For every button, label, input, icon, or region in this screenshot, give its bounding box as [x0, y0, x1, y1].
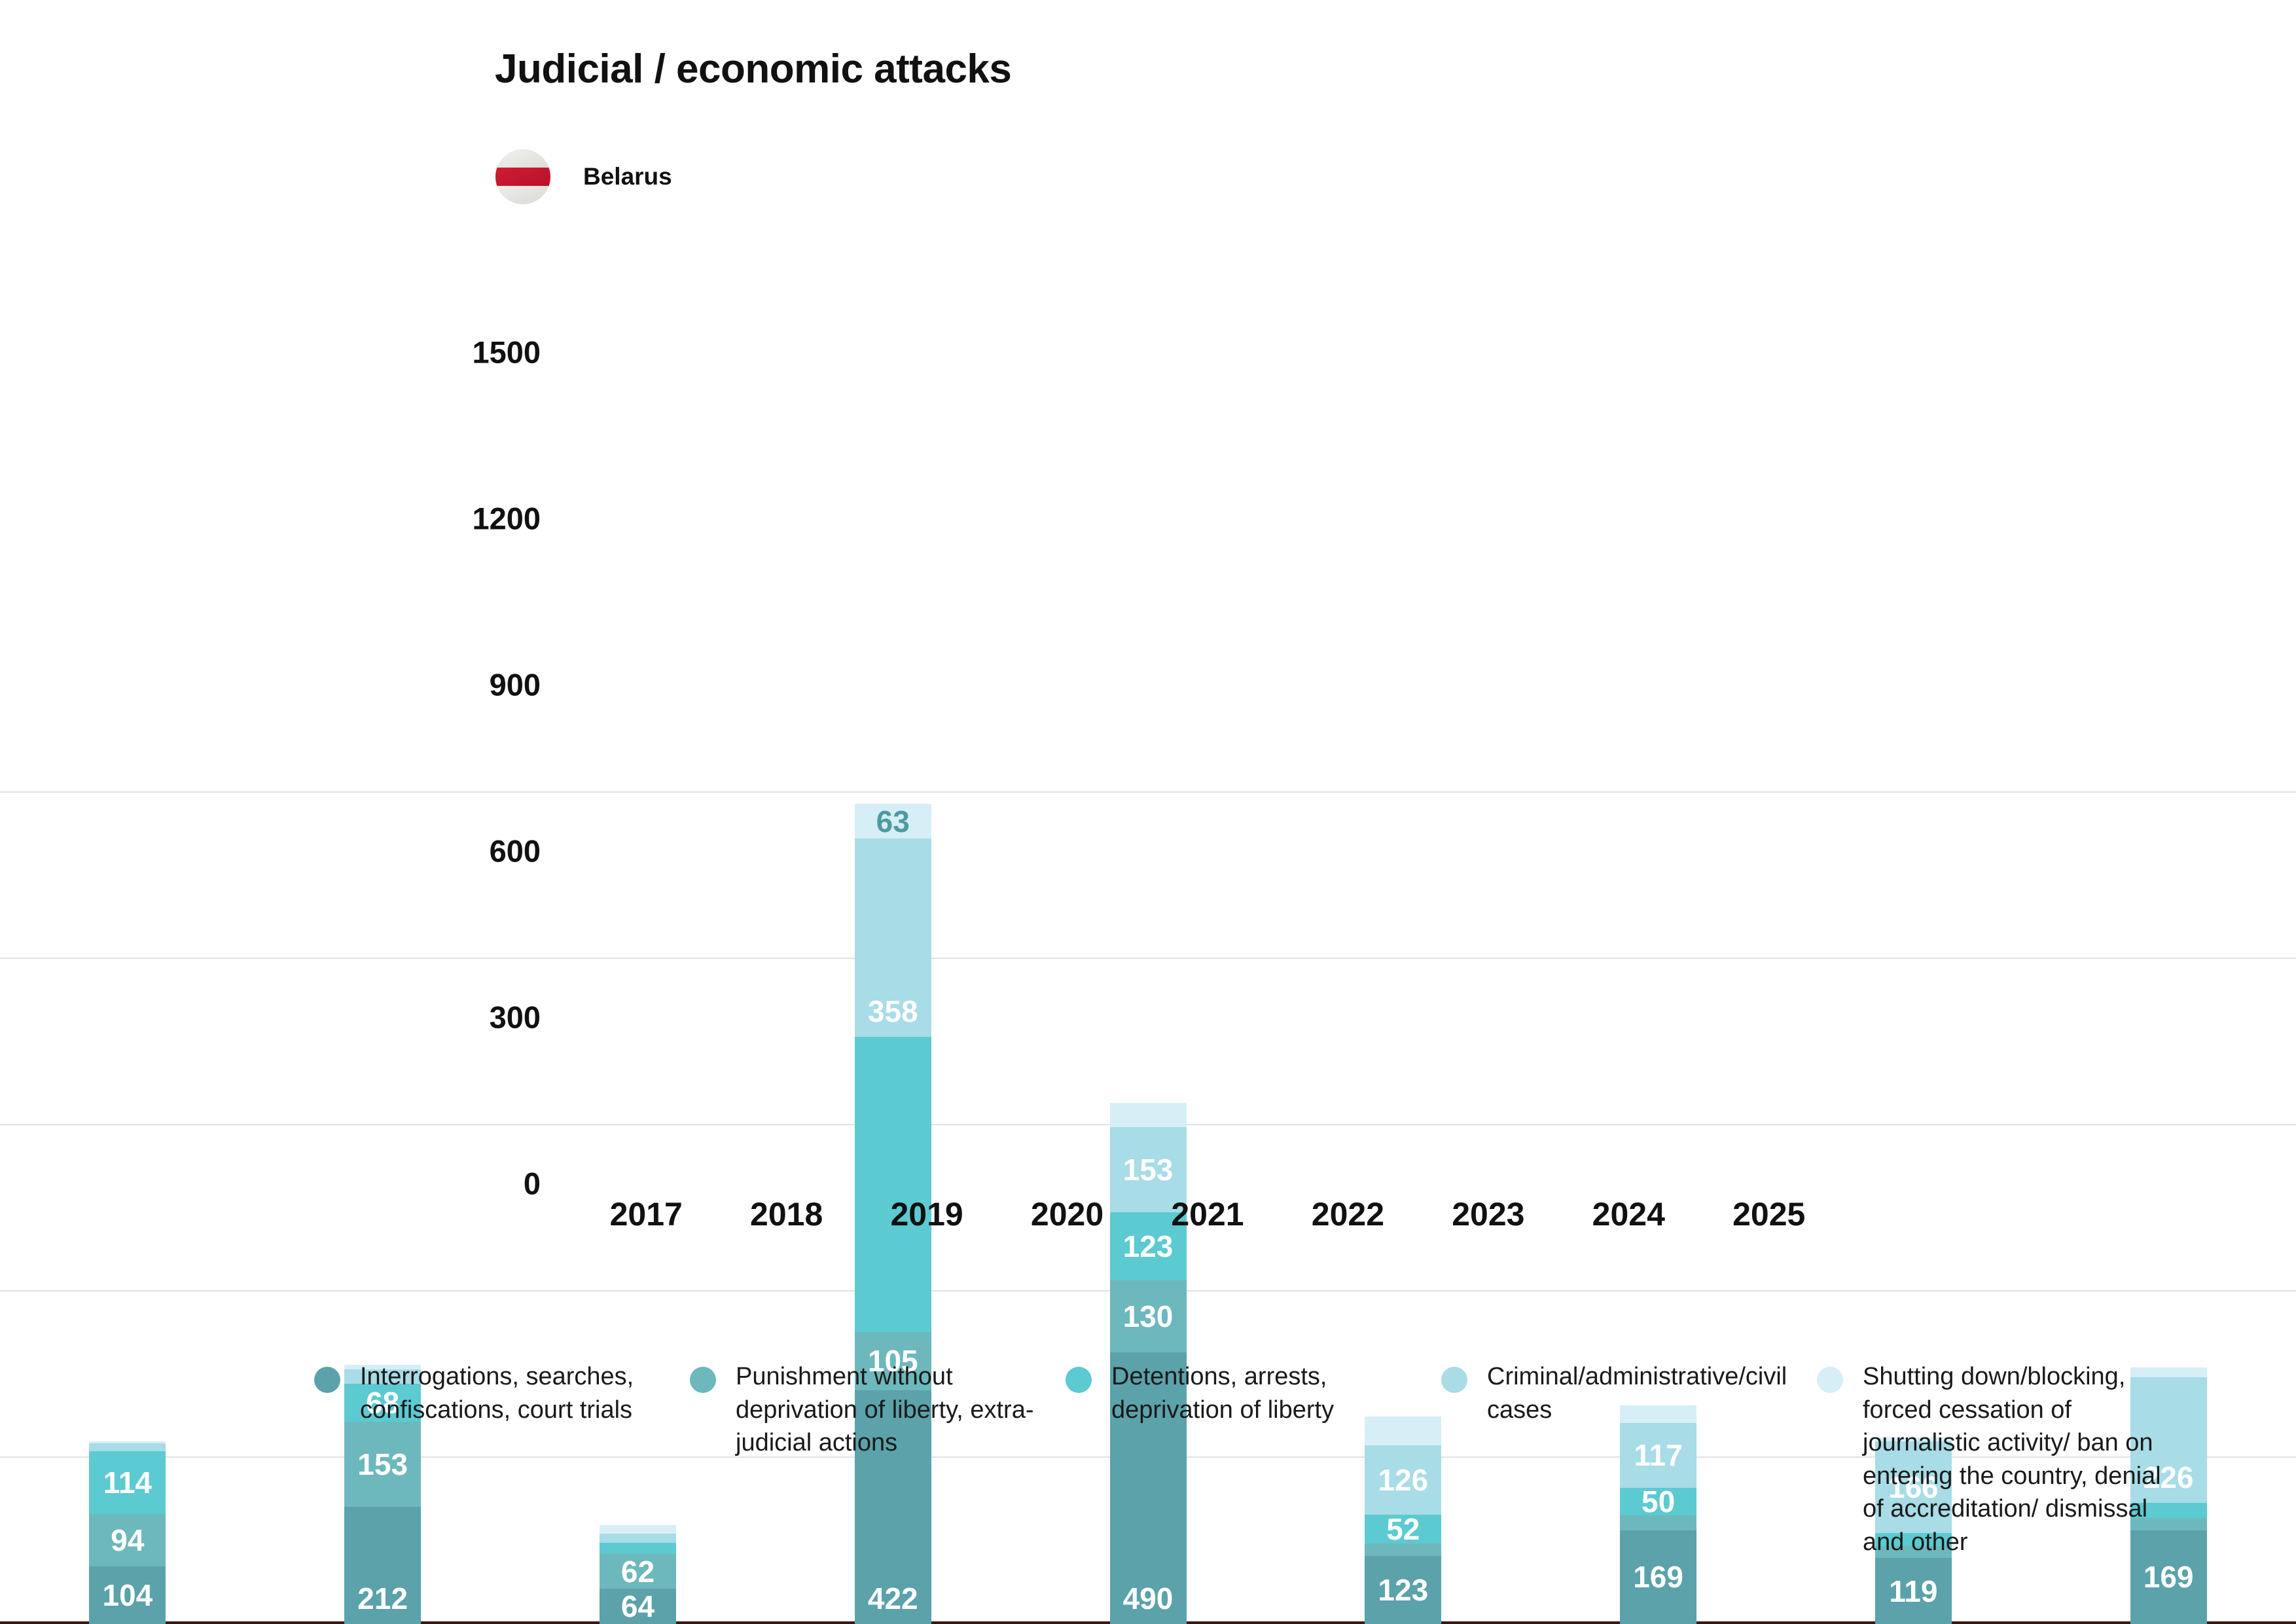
bar-segment[interactable]: 130: [1110, 1280, 1187, 1352]
bar-segment[interactable]: [89, 1441, 166, 1443]
legend-item[interactable]: Shutting down/blocking, forced cessation…: [1817, 1360, 2193, 1559]
chart-legend: Interrogations, searches, confiscations,…: [314, 1360, 2193, 1559]
bar-value-label: 104: [103, 1580, 153, 1610]
x-axis-labels: 201720182019202020212022202320242025: [576, 1195, 1839, 1233]
legend-item[interactable]: Criminal/administrative/civil cases: [1441, 1360, 1817, 1426]
x-axis-tick: 2019: [857, 1195, 997, 1233]
x-axis-tick: 2020: [997, 1195, 1137, 1233]
bar-value-label: 169: [2144, 1562, 2194, 1592]
x-axis-tick: 2024: [1558, 1195, 1698, 1233]
bar-value-label: 130: [1123, 1301, 1174, 1331]
bar-segment[interactable]: 94: [89, 1514, 166, 1566]
bar-segment[interactable]: [855, 1037, 931, 1331]
legend-item[interactable]: Interrogations, searches, confiscations,…: [314, 1360, 690, 1426]
bar-value-label: 94: [111, 1525, 144, 1555]
bar-value-label: 119: [1889, 1576, 1937, 1606]
legend-color-dot-icon: [1066, 1367, 1092, 1393]
legend-label: Interrogations, searches, confiscations,…: [360, 1360, 670, 1426]
bar-value-label: 114: [103, 1468, 152, 1498]
x-axis-tick: 2018: [716, 1195, 856, 1233]
x-axis-tick: 2023: [1418, 1195, 1558, 1233]
bar-value-label: 212: [357, 1583, 408, 1614]
bar-value-label: 64: [621, 1591, 655, 1621]
bar-value-label: 123: [1378, 1575, 1428, 1605]
bar-segment[interactable]: 114: [89, 1451, 166, 1515]
bar-value-label: 123: [1123, 1231, 1174, 1261]
bar-value-label: 62: [621, 1557, 655, 1587]
bar-value-label: 63: [876, 806, 910, 837]
bar-segment[interactable]: 104: [89, 1566, 166, 1624]
bar-value-label: 422: [868, 1583, 918, 1614]
bar-segment[interactable]: 64: [600, 1589, 676, 1624]
legend-label: Criminal/administrative/civil cases: [1487, 1360, 1797, 1426]
legend-label: Detentions, arrests, deprivation of libe…: [1111, 1360, 1422, 1426]
x-axis-tick: 2025: [1699, 1195, 1839, 1233]
bar-value-label: 153: [1123, 1155, 1174, 1185]
bar-value-label: 169: [1633, 1562, 1683, 1592]
legend-color-dot-icon: [1817, 1367, 1843, 1393]
bar-segment[interactable]: [89, 1443, 166, 1451]
legend-item[interactable]: Detentions, arrests, deprivation of libe…: [1066, 1360, 1441, 1426]
x-axis-tick: 2017: [576, 1195, 716, 1233]
bar-segment[interactable]: 123: [1365, 1556, 1441, 1624]
legend-color-dot-icon: [690, 1367, 716, 1393]
stacked-bar[interactable]: 10494114: [89, 1441, 166, 1624]
bar-segment[interactable]: 119: [1875, 1558, 1952, 1624]
bar-segment[interactable]: 358: [855, 839, 931, 1037]
bar-segment[interactable]: 62: [600, 1554, 676, 1588]
legend-label: Shutting down/blocking, forced cessation…: [1863, 1360, 2173, 1559]
chart-container: Judicial / economic attacks Belarus 0300…: [0, 0, 2296, 1624]
legend-color-dot-icon: [314, 1367, 340, 1393]
x-axis-tick: 2022: [1278, 1195, 1418, 1233]
legend-label: Punishment without deprivation of libert…: [736, 1360, 1046, 1460]
x-axis-tick: 2021: [1138, 1195, 1278, 1233]
bar-segment[interactable]: 63: [855, 804, 931, 839]
legend-item[interactable]: Punishment without deprivation of libert…: [690, 1360, 1066, 1460]
bar-segment[interactable]: [1110, 1103, 1187, 1127]
legend-color-dot-icon: [1441, 1367, 1467, 1393]
bar-slot: 10494114: [0, 0, 255, 1624]
bar-value-label: 358: [868, 996, 918, 1026]
bar-value-label: 490: [1123, 1583, 1174, 1614]
